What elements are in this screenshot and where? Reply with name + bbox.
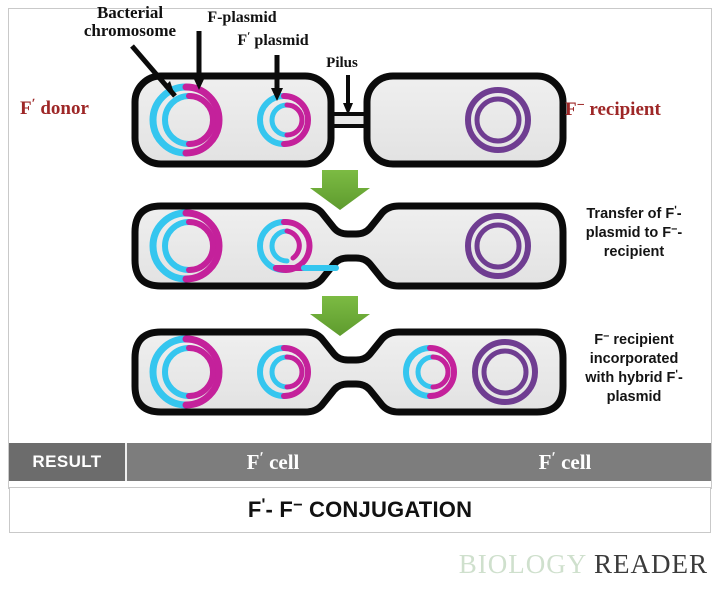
watermark-reader: READER: [594, 549, 708, 579]
step-3-line-1: F− recipient: [556, 331, 712, 350]
step3-l3-pre: with hybrid F: [585, 370, 675, 386]
caption-pre: F: [248, 497, 262, 522]
step2-l2-pre: plasmid to F: [586, 225, 671, 241]
green-arrow-1: [310, 170, 370, 210]
watermark-biology: BIOLOGY: [459, 549, 587, 579]
step-3-line-2: incorporated: [556, 350, 712, 369]
result-right-pre: F: [539, 450, 552, 474]
label-f-prime-donor: Fʹ donor: [20, 99, 136, 119]
label-f-plasmid: F-plasmid: [178, 10, 306, 27]
green-arrow-2: [310, 296, 370, 336]
watermark: BIOLOGY READER: [440, 549, 708, 580]
minus-mark: −: [577, 97, 585, 113]
step-3-line-3: with hybrid Fʹ-: [556, 369, 712, 388]
result-cells: Fʹ cell Fʹ cell: [127, 443, 711, 481]
result-right-post: cell: [556, 450, 592, 474]
result-bar: RESULT Fʹ cell Fʹ cell: [9, 443, 711, 481]
leader-arrow-pilus: [343, 75, 353, 115]
caption-post: CONJUGATION: [303, 497, 472, 522]
caption-mid: - F: [266, 497, 293, 522]
label-donor-pre: F: [20, 98, 32, 119]
step-2-line-2: plasmid to F−-: [556, 224, 712, 243]
diagram-stage: Bacterial chromosome F-plasmid Fʹ plasmi…: [0, 0, 720, 589]
label-f-minus-recipient: F− recipient: [565, 100, 715, 120]
label-f-prime-plasmid-post: plasmid: [250, 32, 308, 49]
step-2-line-1: Transfer of Fʹ-: [556, 205, 712, 224]
label-recipient-pre: F: [565, 99, 577, 120]
step2-l1-post: -: [677, 206, 682, 222]
step2-l1-pre: Transfer of F: [586, 206, 674, 222]
minus-mark: −: [293, 496, 303, 514]
step-2-line-3: recipient: [556, 243, 712, 262]
label-donor-post: donor: [36, 98, 89, 119]
step-3-line-4: plasmid: [556, 388, 712, 407]
step-2-description: Transfer of Fʹ- plasmid to F−- recipient: [556, 205, 712, 262]
result-tag: RESULT: [9, 443, 127, 481]
label-pilus: Pilus: [307, 56, 377, 72]
label-f-prime-plasmid: Fʹ plasmid: [208, 33, 338, 50]
step3-l1-pre: F: [594, 332, 603, 348]
label-f-prime-plasmid-pre: F: [237, 32, 247, 49]
result-cell-left: Fʹ cell: [127, 450, 419, 475]
label-recipient-post: recipient: [585, 99, 661, 120]
caption-box: Fʹ- F− CONJUGATION: [9, 487, 711, 533]
result-left-post: cell: [264, 450, 300, 474]
step2-l2-post: -: [677, 225, 682, 241]
result-cell-right: Fʹ cell: [419, 450, 711, 475]
caption-text: Fʹ- F− CONJUGATION: [248, 497, 472, 523]
step-3-description: F− recipient incorporated with hybrid Fʹ…: [556, 331, 712, 408]
step3-l3-post: -: [678, 370, 683, 386]
step3-l1-post: recipient: [609, 332, 673, 348]
result-left-pre: F: [247, 450, 260, 474]
